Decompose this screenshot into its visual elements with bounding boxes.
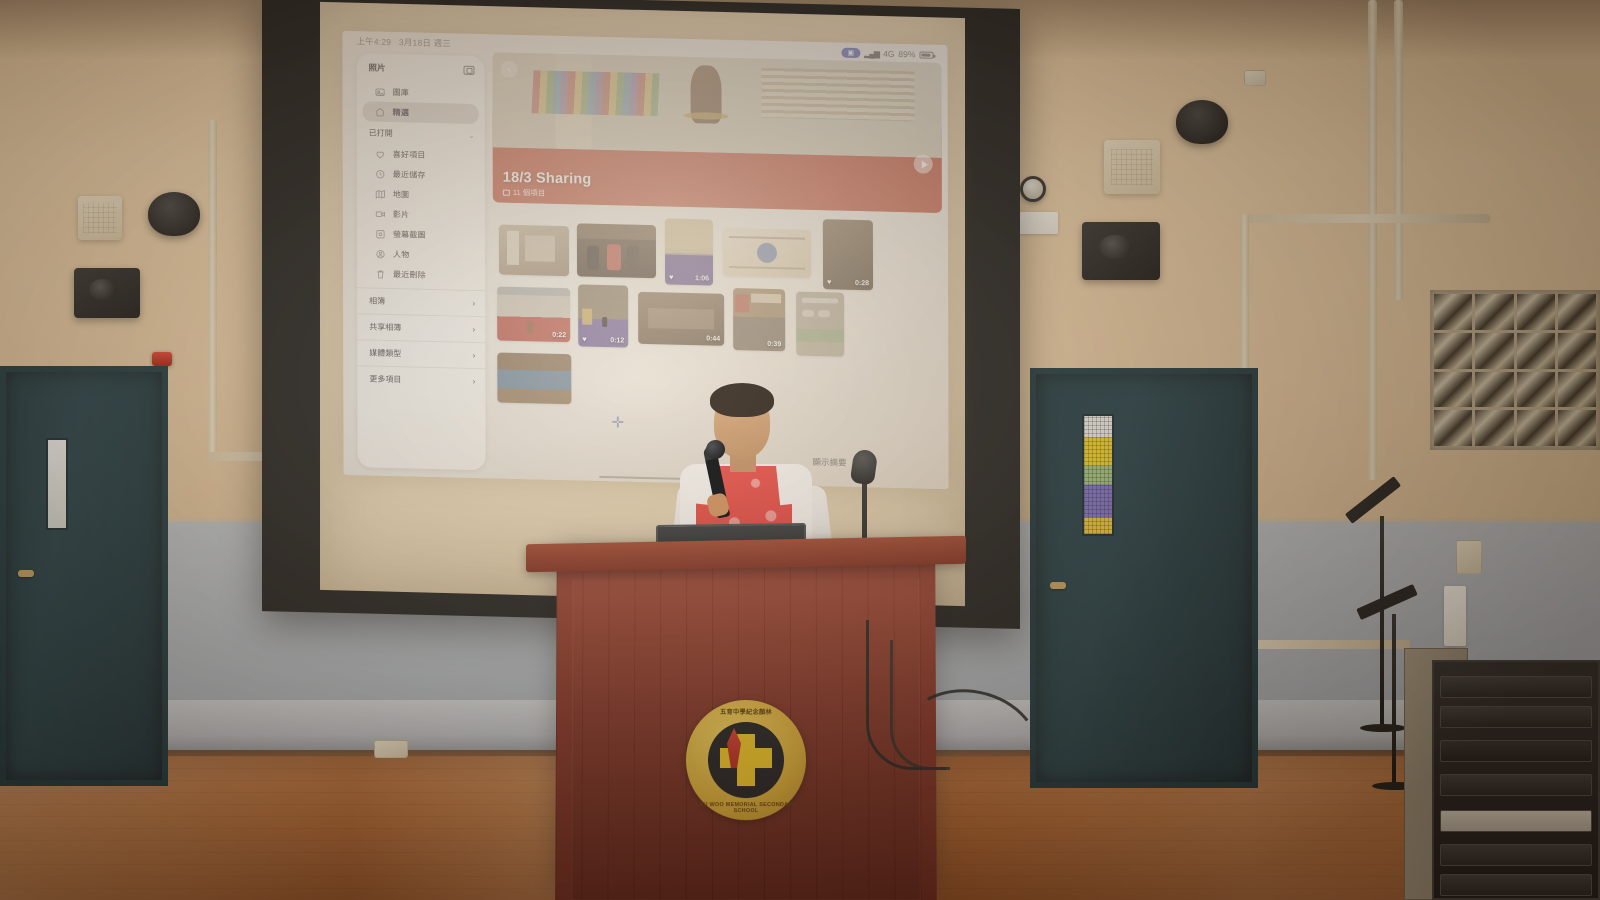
album-hero-banner[interactable]: ‹ 18/3 Sharing 11 個項目 [492,52,941,213]
door-left[interactable] [0,366,168,786]
hall-scene: 上午4:29 3月18日 週三 ▣ ▂▄▆ 4G 89% 照片 [0,0,1600,900]
wall-notice [1444,586,1466,646]
wall-horn-speaker [148,192,200,236]
sidebar-row-media-types[interactable]: 媒體類型 › [357,339,485,368]
sidebar-item-people[interactable]: 人物 [363,243,479,266]
sidebar-item-label: 人物 [393,249,409,260]
presenter-hair [710,383,774,417]
hero-wall-bars [762,68,915,121]
rack-unit [1440,706,1592,728]
wall-conduit [1368,0,1377,480]
rack-label-panel [1440,810,1592,832]
video-duration: 0:44 [706,335,720,342]
rack-unit [1440,844,1592,866]
sidebar-item-videos[interactable]: 影片 [363,203,479,226]
sidebar-item-screenshots[interactable]: 螢幕截圖 [363,223,479,246]
video-icon [375,208,386,219]
row-label: 媒體類型 [369,347,401,359]
chevron-down-icon[interactable]: ⌄ [468,131,475,140]
floor-socket[interactable] [374,740,408,758]
album-icon [503,189,510,195]
chevron-right-icon[interactable]: › [472,299,475,308]
wall-conduit [1240,214,1490,223]
door-handle[interactable] [1050,582,1066,589]
people-icon [375,248,386,259]
hero-pommel-horse [683,112,728,121]
wire-mesh-overlay [1084,416,1112,534]
record-icon: ▣ [847,49,854,57]
sidebar-item-places[interactable]: 地圖 [363,183,479,206]
hero-mats [532,70,660,115]
row-label: 共享相簿 [369,321,401,333]
wall-conduit [1394,0,1403,300]
door-window [46,438,68,530]
thumbnail[interactable]: 0:44 [638,292,724,346]
photos-library-icon [375,86,386,97]
status-time: 上午4:29 [356,36,391,47]
thumbnail[interactable]: ♥ 0:12 [578,284,628,347]
sidebar-item-label: 影片 [393,209,409,220]
alarm-light [152,352,172,366]
album-item-count: 11 個項目 [503,187,545,199]
wall-grille-box [78,196,122,240]
wall-horn-speaker [1176,100,1228,144]
thumbnail[interactable] [577,223,656,278]
sidebar-row-more-items[interactable]: 更多項目 › [357,365,485,394]
collections-label: 已打開 [369,127,393,139]
video-duration: 0:39 [767,341,781,348]
thumbnail[interactable] [497,353,571,405]
wall-speaker-box [1082,222,1160,280]
sidebar-item-favorites[interactable]: 喜好項目 [363,143,479,166]
album-item-count-label: 11 個項目 [513,187,545,199]
projected-ipad-photos-app[interactable]: 上午4:29 3月18日 週三 ▣ ▂▄▆ 4G 89% 照片 [342,31,948,489]
sidebar-row-albums[interactable]: 相簿 › [357,287,485,316]
equipment-rack [1432,660,1600,900]
wall-socket [1244,70,1266,86]
battery-icon [919,51,933,58]
rack-unit [1440,676,1592,698]
sidebar-item-library[interactable]: 圖庫 [363,81,479,104]
thumbnail[interactable]: ♥ 0:28 [823,219,873,290]
school-emblem: 五育中學紀念顏林 LAU WOO MEMORIAL SECONDARY SCHO… [686,700,806,820]
door-right[interactable] [1030,368,1258,788]
sidebar-title: 照片 [368,61,385,73]
album-title: 18/3 Sharing [503,170,592,188]
rack-unit [1440,740,1592,762]
add-marker-icon[interactable]: ✛ [611,413,624,431]
emblem-chinese-name: 五育中學紀念顏林 [686,707,806,716]
favorite-icon: ♥ [669,273,673,282]
door-window [1082,414,1114,536]
sidebar-item-label: 喜好項目 [393,149,426,161]
network-type: 4G [883,49,894,59]
sidebar-item-recently-saved[interactable]: 最近儲存 [363,163,479,186]
thumbnail[interactable]: ♥ 1:06 [665,218,713,285]
sidebar-item-for-you[interactable]: 精選 [363,101,479,124]
chevron-right-icon[interactable]: › [473,351,476,360]
sidebar-collections-header[interactable]: 已打開 ⌄ [357,121,485,146]
wall-socket[interactable] [1456,540,1482,574]
door-handle[interactable] [18,570,34,577]
video-duration: 0:28 [855,280,869,287]
heart-icon [375,148,386,159]
emblem-english-name: LAU WOO MEMORIAL SECONDARY SCHOOL [686,802,806,814]
for-you-icon [375,106,386,117]
video-duration: 0:22 [552,332,566,339]
favorite-icon: ♥ [827,277,831,286]
row-label: 相簿 [369,295,385,306]
hero-photo [492,52,941,157]
wall-speaker-box [74,268,140,318]
rack-unit [1440,874,1592,896]
emblem-center [708,722,784,798]
rack-unit [1440,774,1592,796]
battery-percent: 89% [898,49,915,59]
sidebar-row-shared-albums[interactable]: 共享相簿 › [357,313,485,342]
sidebar-item-label: 圖庫 [393,87,409,98]
wall-sign [1016,212,1058,234]
status-date: 3月18日 週三 [399,37,451,48]
trash-icon [375,268,386,279]
screen-record-indicator: ▣ [841,48,860,58]
favorite-icon: ♥ [582,335,586,344]
sidebar-item-label: 地圖 [393,189,409,200]
chevron-right-icon[interactable]: › [473,377,476,386]
back-button[interactable]: ‹ [500,61,517,78]
thumbnail[interactable]: 0:22 [497,287,570,343]
thumbnail[interactable] [796,292,844,357]
wall-grille-box [1104,140,1160,194]
signal-bars-icon: ▂▄▆ [864,49,879,58]
photos-sidebar[interactable]: 照片 圖庫 精選 已打開 ⌄ [356,53,485,470]
thumbnail[interactable] [499,225,569,277]
sidebar-item-label: 最近刪除 [393,269,426,281]
recently-saved-icon [375,168,386,179]
thumbnail[interactable] [723,228,811,278]
glass-block-window [1430,290,1600,450]
video-duration: 1:06 [695,275,709,282]
chevron-right-icon[interactable]: › [473,325,476,334]
video-duration: 0:12 [610,337,624,344]
sidebar-item-label: 最近儲存 [393,169,426,181]
play-button[interactable] [914,154,933,173]
sidebar-item-recently-deleted[interactable]: 最近刪除 [363,263,479,286]
sidebar-item-label: 精選 [393,107,409,118]
screenshot-icon [375,228,386,239]
wall-clock [1020,176,1046,202]
wall-conduit [208,120,217,460]
row-label: 更多項目 [369,373,401,385]
sidebar-item-label: 螢幕截圖 [393,229,426,241]
map-icon [375,188,386,199]
library-icon[interactable] [464,65,475,74]
thumbnail[interactable]: 0:39 [733,288,785,351]
